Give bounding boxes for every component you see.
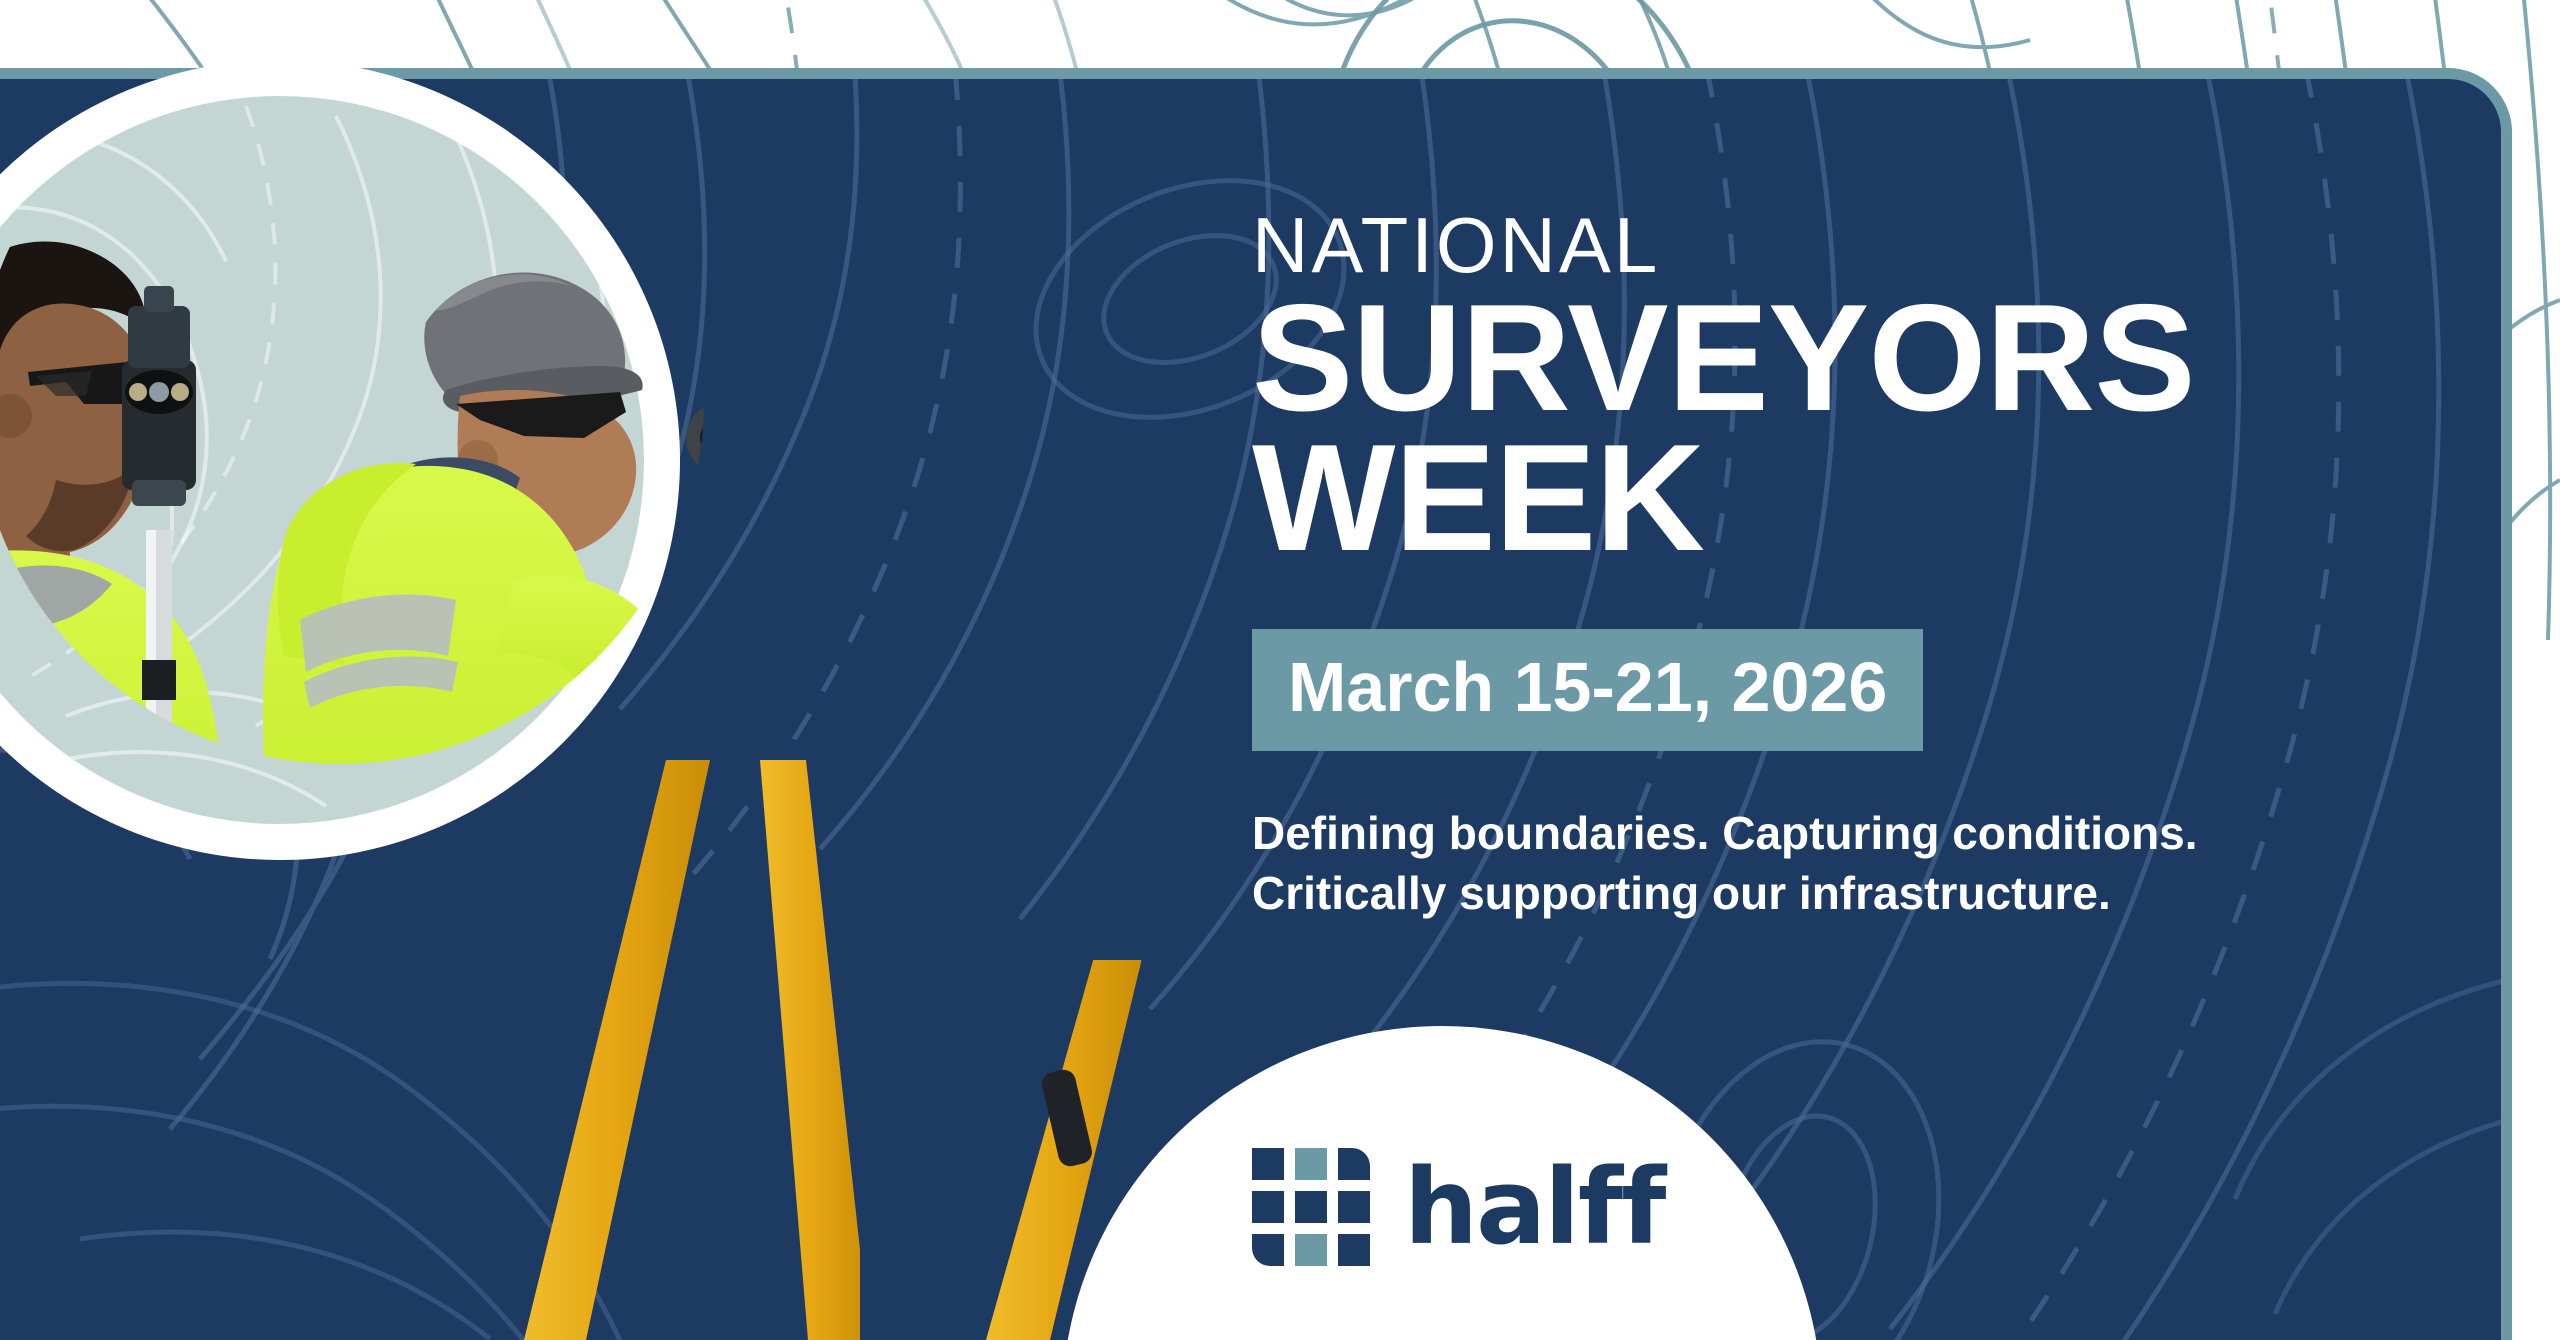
halff-grid-icon <box>1252 1148 1370 1266</box>
headline-block: NATIONAL SURVEYORS WEEK March 15-21, 202… <box>1252 208 2432 924</box>
date-badge: March 15-21, 2026 <box>1252 629 1923 751</box>
headline-line-2: WEEK <box>1252 429 2432 569</box>
halff-wordmark: halff <box>1404 1155 1664 1259</box>
medallion-sage-fill <box>0 96 644 824</box>
kicker-text: NATIONAL <box>1252 208 2432 283</box>
photo-medallion <box>0 60 680 860</box>
headline-line-1: SURVEYORS <box>1252 289 2432 429</box>
tagline-line-2: Critically supporting our infrastructure… <box>1252 863 2432 924</box>
poster-canvas: NATIONAL SURVEYORS WEEK March 15-21, 202… <box>0 0 2560 1340</box>
halff-logo: halff <box>1252 1148 1664 1266</box>
tagline-line-1: Defining boundaries. Capturing condition… <box>1252 803 2432 864</box>
tagline-block: Defining boundaries. Capturing condition… <box>1252 803 2432 924</box>
medallion-topo <box>0 96 644 824</box>
